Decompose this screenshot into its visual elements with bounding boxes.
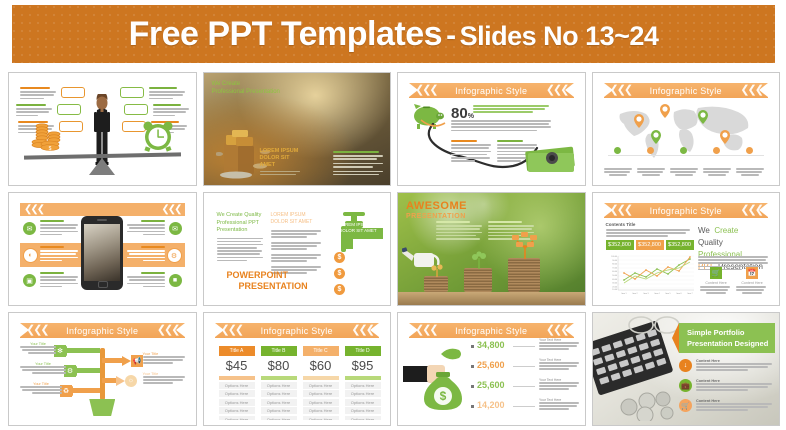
slide-4-dot-2 (647, 147, 654, 154)
slide-12-heading-1: Simple Portfolio (679, 323, 775, 338)
slide-11-ribbon: ❮❮❮ Infographic Style ❮❮❮ (409, 323, 574, 338)
svg-text:90.00: 90.00 (612, 260, 617, 262)
pricing-title-1: Title A (219, 346, 255, 356)
slide-9-ribbon-title: Infographic Style (66, 326, 138, 336)
slide-10-ribbon: ❮❮❮ Infographic Style ❮❮❮ (215, 323, 380, 338)
chevron-left-icon: ❮❮❮ (415, 85, 437, 96)
scale-fulcrum-icon (89, 158, 115, 175)
sprout-icon-2 (468, 251, 490, 269)
pricing-title-2: Title B (261, 346, 297, 356)
slide-thumbnail-4[interactable]: ❮❮❮ Infographic Style ❮❮❮ (592, 72, 781, 186)
slide-3-ribbon-title: Infographic Style (455, 86, 527, 96)
slide-4-ribbon-title: Infographic Style (650, 86, 722, 96)
slide-thumbnail-1[interactable]: $ (8, 72, 197, 186)
cash-bundle-icon (524, 141, 576, 175)
slide-5-canvas: ❮❮❮ ❮❮❮ ✉ ◐ ▣ ✉ (14, 198, 191, 300)
mail-icon: ✉ (23, 222, 36, 235)
pricing-bar-2 (261, 376, 297, 380)
smartphone-icon (81, 216, 123, 290)
pricing-option: Options Here (219, 382, 255, 389)
pricing-option: Options Here (303, 407, 339, 414)
slide-12-item-3: 🛒 Content Here (679, 399, 775, 413)
slide-12-photo: Simple Portfolio Presentation Designed ↓… (593, 313, 780, 425)
alarm-clock-icon (141, 120, 175, 152)
map-pin-icon-c (651, 130, 661, 144)
slide-4-dot-1 (614, 147, 621, 154)
chevron-left-icon-2: ❮❮❮ (740, 205, 762, 216)
slide-4-canvas: ❮❮❮ Infographic Style ❮❮❮ (598, 78, 775, 180)
slide-8-line-chart: 100.0090.0080.00 70.0060.0050.00 40.0030… (606, 254, 694, 296)
chevron-left-icon-2: ❮❮❮ (351, 325, 373, 336)
chevron-left-icon: ❮❮❮ (610, 205, 632, 216)
slide-3-ribbon: ❮❮❮ Infographic Style ❮❮❮ (409, 83, 574, 98)
slide-3-stat-desc (473, 105, 551, 115)
arm-green-1 (66, 348, 100, 353)
pricing-price-3: $60 (303, 356, 339, 376)
slide-1-label-5 (124, 104, 148, 115)
chevron-left-icon: ❮❮❮ (221, 325, 243, 336)
slide-10-ribbon-title: Infographic Style (261, 326, 333, 336)
gear-icon: ⚙ (167, 248, 182, 263)
map-pin-icon-d (698, 110, 708, 124)
pricing-column-1[interactable]: Title A $45 Options Here Options Here Op… (219, 346, 255, 420)
slide-9-left-text-1: Your Title (20, 342, 56, 356)
dollar-coin-icon-1: $ (334, 252, 345, 263)
arrow-right-icon-1 (122, 356, 131, 366)
svg-text:Item 4: Item 4 (654, 292, 659, 295)
page-title-main: Free PPT Templates (129, 15, 443, 53)
slide-4-dot-3 (680, 147, 687, 154)
slide-12-item-2: 💼 Content Here (679, 379, 775, 393)
pricing-option: Options Here (303, 382, 339, 389)
slide-thumbnail-12[interactable]: Simple Portfolio Presentation Designed ↓… (592, 312, 781, 426)
slide-5-item-1 (40, 220, 80, 237)
pricing-option: Options Here (261, 416, 297, 421)
slide-8-contents: Contents Title (606, 222, 690, 239)
slide-6-canvas: We Create Quality Professional PPT Prese… (209, 198, 386, 300)
slide-4-caption-5 (736, 168, 764, 176)
svg-text:50.00: 50.00 (612, 275, 617, 277)
svg-text:100.00: 100.00 (611, 256, 617, 258)
pricing-option: Options Here (219, 416, 255, 421)
calendar-icon: 📅 (746, 267, 758, 279)
slide-4-caption-3 (670, 168, 698, 176)
megaphone-icon: 📢 (131, 355, 143, 367)
pricing-option: Options Here (261, 399, 297, 406)
arm-orange-3 (72, 388, 100, 393)
slide-7-col-1 (436, 221, 484, 241)
slide-thumbnail-7[interactable]: AWESOME PRESENTATION (397, 192, 586, 306)
slide-thumbnail-10[interactable]: ❮❮❮ Infographic Style ❮❮❮ Title A $45 Op… (203, 312, 392, 426)
slide-5-item-4 (125, 220, 165, 237)
map-pin-icon-e (720, 130, 730, 144)
slide-4-caption-1 (604, 168, 632, 176)
slide-8-ribbon: ❮❮❮ Infographic Style ❮❮❮ (604, 203, 769, 218)
slide-1-text-left-1 (20, 87, 56, 101)
pricing-option: Options Here (261, 390, 297, 397)
slide-thumbnail-3[interactable]: ❮❮❮ Infographic Style ❮❮❮ (397, 72, 586, 186)
slide-4-ribbon: ❮❮❮ Infographic Style ❮❮❮ (604, 83, 769, 98)
pricing-option: Options Here (219, 390, 255, 397)
slide-6-footer: POWERPOINT PRESENTATION (227, 270, 308, 292)
arrow-right-icon-2 (116, 376, 125, 386)
pricing-option: Options Here (345, 399, 381, 406)
slide-2-subheading: LOREM IPSUM DOLOR SIT AMET (260, 148, 305, 177)
slide-8-stat-2: $352,800 (636, 240, 664, 250)
pricing-option: Options Here (345, 382, 381, 389)
slide-thumbnail-6[interactable]: We Create Quality Professional PPT Prese… (203, 192, 392, 306)
page-title: Free PPT Templates-Slides No 13~24 (129, 15, 659, 54)
pricing-bar-1 (219, 376, 255, 380)
svg-text:Item 5: Item 5 (665, 292, 670, 295)
svg-text:Item 2: Item 2 (632, 292, 637, 295)
pricing-option: Options Here (219, 407, 255, 414)
slide-1-canvas: $ (14, 78, 191, 180)
pricing-price-1: $45 (219, 356, 255, 376)
money-tree-icon (508, 231, 542, 259)
sprout-icon-1 (428, 263, 446, 277)
slide-9-left-text-3: Your Title (20, 382, 62, 396)
slide-1-text-right-1 (149, 87, 185, 101)
svg-text:70.00: 70.00 (612, 267, 617, 269)
block-icon: ■ (169, 274, 182, 287)
pricing-option: Options Here (261, 407, 297, 414)
slide-6-callout: LOREM IPSUM DOLOR SIT AMET (339, 222, 379, 234)
coins-icon (615, 385, 687, 421)
cart-icon: 🛒 (679, 399, 692, 412)
slide-8-cta-1[interactable]: 🛒 Content Here (700, 267, 732, 294)
pricing-title-3: Title C (303, 346, 339, 356)
pricing-option: Options Here (261, 382, 297, 389)
coin-stack-icon-1 (424, 276, 448, 292)
slide-thumbnail-5[interactable]: ❮❮❮ ❮❮❮ ✉ ◐ ▣ ✉ (8, 192, 197, 306)
slide-thumbnail-8[interactable]: ❮❮❮ Infographic Style ❮❮❮ Contents Title… (592, 192, 781, 306)
slide-5-item-6 (125, 272, 165, 289)
slide-1-label-2 (57, 104, 81, 115)
slide-7-photo: AWESOME PRESENTATION (398, 193, 585, 305)
smartphone-screen (84, 224, 120, 281)
chevron-left-icon-2: ❮❮❮ (740, 85, 762, 96)
svg-text:Item 3: Item 3 (643, 292, 648, 295)
chevron-left-icon-2: ❮❮❮ (161, 204, 180, 215)
chevron-left-icon: ❮❮❮ (26, 325, 48, 336)
slide-4-caption-2 (637, 168, 665, 176)
slide-1-label-1 (61, 87, 85, 98)
ppt-template-gallery-page: Free PPT Templates-Slides No 13~24 (0, 0, 786, 430)
slide-5-item-3 (40, 272, 80, 289)
money-bag-icon: $ (421, 370, 465, 412)
pricing-price-2: $80 (261, 356, 297, 376)
plant-stem (100, 348, 105, 400)
slide-8-stat-boxes: $352,800 $352,800 $352,800 (606, 240, 694, 250)
slide-4-caption-4 (703, 168, 731, 176)
slide-8-ribbon-title: Infographic Style (650, 206, 722, 216)
svg-text:60.00: 60.00 (612, 271, 617, 273)
chevron-left-icon: ❮❮❮ (415, 325, 437, 336)
cart-icon: 🛒 (710, 267, 722, 279)
pricing-option: Options Here (219, 399, 255, 406)
pricing-option: Options Here (303, 399, 339, 406)
chevron-left-icon-2: ❮❮❮ (157, 325, 179, 336)
slide-4-dot-5 (746, 147, 753, 154)
chevron-left-icon-2: ❮❮❮ (546, 85, 568, 96)
svg-text:40.00: 40.00 (612, 279, 617, 281)
page-title-dash: - (442, 19, 460, 52)
svg-text:$: $ (49, 146, 52, 152)
slide-7-plank (398, 292, 585, 305)
slide-9-right-text-1: Your Title (143, 352, 185, 366)
slide-3-canvas: ❮❮❮ Infographic Style ❮❮❮ (403, 78, 580, 180)
pricing-column-3[interactable]: Title C $60 Options Here Options Here Op… (303, 346, 339, 420)
pricing-column-2[interactable]: Title B $80 Options Here Options Here Op… (261, 346, 297, 420)
slide-7-heading: AWESOME PRESENTATION (406, 201, 467, 221)
pricing-option: Options Here (303, 390, 339, 397)
chart-icon: ◐ (23, 248, 38, 263)
slide-thumbnail-9[interactable]: ❮❮❮ Infographic Style ❮❮❮ ✻ (8, 312, 197, 426)
slide-11-canvas: ❮❮❮ Infographic Style ❮❮❮ $ (403, 318, 580, 420)
slide-9-canvas: ❮❮❮ Infographic Style ❮❮❮ ✻ (14, 318, 191, 420)
svg-text:30.00: 30.00 (612, 283, 617, 285)
svg-text:Item 6: Item 6 (676, 292, 681, 295)
slide-12-title-banner: Simple Portfolio Presentation Designed (679, 323, 775, 353)
dollar-coin-icon-3: $ (334, 284, 345, 295)
slide-9-ribbon: ❮❮❮ Infographic Style ❮❮❮ (20, 323, 185, 338)
pricing-bar-4 (345, 376, 381, 380)
slide-2-body (333, 151, 385, 177)
slide-thumbnail-2[interactable]: We Create Professional Presentation (203, 72, 392, 186)
slide-5-header-band: ❮❮❮ ❮❮❮ (20, 203, 185, 216)
slide-4-timeline (608, 155, 765, 156)
slide-2-photo: We Create Professional Presentation (204, 73, 391, 185)
slide-6-heading: We Create Quality Professional PPT Prese… (217, 212, 263, 263)
arm-green-2 (76, 368, 100, 373)
slide-thumbnail-11[interactable]: ❮❮❮ Infographic Style ❮❮❮ $ (397, 312, 586, 426)
arm-orange-1 (102, 358, 124, 363)
chevron-left-icon: ❮❮❮ (24, 204, 43, 215)
pricing-option: Options Here (345, 416, 381, 421)
briefcase-icon: 💼 (679, 379, 692, 392)
page-header-banner: Free PPT Templates-Slides No 13~24 (12, 5, 775, 63)
slide-5-item-2 (40, 246, 80, 263)
slide-2-heading: We Create Professional Presentation (212, 80, 280, 96)
slide-3-col-1 (451, 140, 493, 163)
coin-stack-icon-2 (464, 268, 492, 292)
banknote-icon (439, 348, 463, 362)
slide-4-dot-4 (713, 147, 720, 154)
pricing-option: Options Here (345, 390, 381, 397)
svg-text:Item 7: Item 7 (687, 292, 692, 295)
monitor-icon: ▣ (23, 274, 36, 287)
pricing-title-4: Title D (345, 346, 381, 356)
pricing-option: Options Here (345, 407, 381, 414)
slide-9-right-text-2: Your Title (143, 372, 185, 386)
svg-text:80.00: 80.00 (612, 264, 617, 266)
line-chart-svg: 100.0090.0080.00 70.0060.0050.00 40.0030… (606, 254, 694, 296)
chevron-left-icon: ❮❮❮ (610, 85, 632, 96)
pricing-option: Options Here (303, 416, 339, 421)
slide-3-paragraph (451, 120, 551, 133)
slide-12-heading-2: Presentation Designed (679, 338, 775, 349)
slide-10-canvas: ❮❮❮ Infographic Style ❮❮❮ Title A $45 Op… (209, 318, 386, 420)
svg-text:$: $ (440, 389, 447, 403)
slide-12-item-1: ↓ Content Here (679, 359, 775, 373)
map-pin-icon-a (634, 114, 644, 128)
download-icon: ↓ (679, 359, 692, 372)
chevron-left-icon-2: ❮❮❮ (546, 325, 568, 336)
slide-5-item-5 (125, 246, 165, 263)
slide-9-left-text-2: Your Title (20, 362, 66, 376)
flower-pot-icon (89, 399, 115, 416)
slide-8-canvas: ❮❮❮ Infographic Style ❮❮❮ Contents Title… (598, 198, 775, 300)
pricing-price-4: $95 (345, 356, 381, 376)
coin-stack-icon-3 (508, 258, 540, 292)
slide-8-stat-1: $352,800 (606, 240, 634, 250)
coins-icon: $ (30, 120, 66, 152)
slide-1-text-left-2 (16, 104, 52, 118)
slide-8-stat-3: $352,800 (666, 240, 694, 250)
slide-11-ribbon-title: Infographic Style (455, 326, 527, 336)
svg-text:Item 1: Item 1 (621, 292, 626, 295)
slide-6-list: LOREM IPSUM DOLOR SIT AMET (271, 212, 323, 275)
slide-8-cta-2[interactable]: 📅 Content Here (736, 267, 768, 294)
pricing-column-4[interactable]: Title D $95 Options Here Options Here Op… (345, 346, 381, 420)
lightbulb-icon: ☼ (125, 375, 137, 387)
svg-text:10.00: 10.00 (612, 289, 617, 291)
slide-1-text-right-2 (153, 104, 189, 118)
map-pin-icon-b (660, 104, 670, 118)
page-title-sub: Slides No 13~24 (460, 21, 659, 51)
slide-1-label-4 (120, 87, 144, 98)
mail-icon-2: ✉ (169, 222, 182, 235)
pricing-bar-3 (303, 376, 339, 380)
dollar-coin-icon-2: $ (334, 268, 345, 279)
slide-thumbnail-grid: $ We Create (8, 72, 780, 426)
